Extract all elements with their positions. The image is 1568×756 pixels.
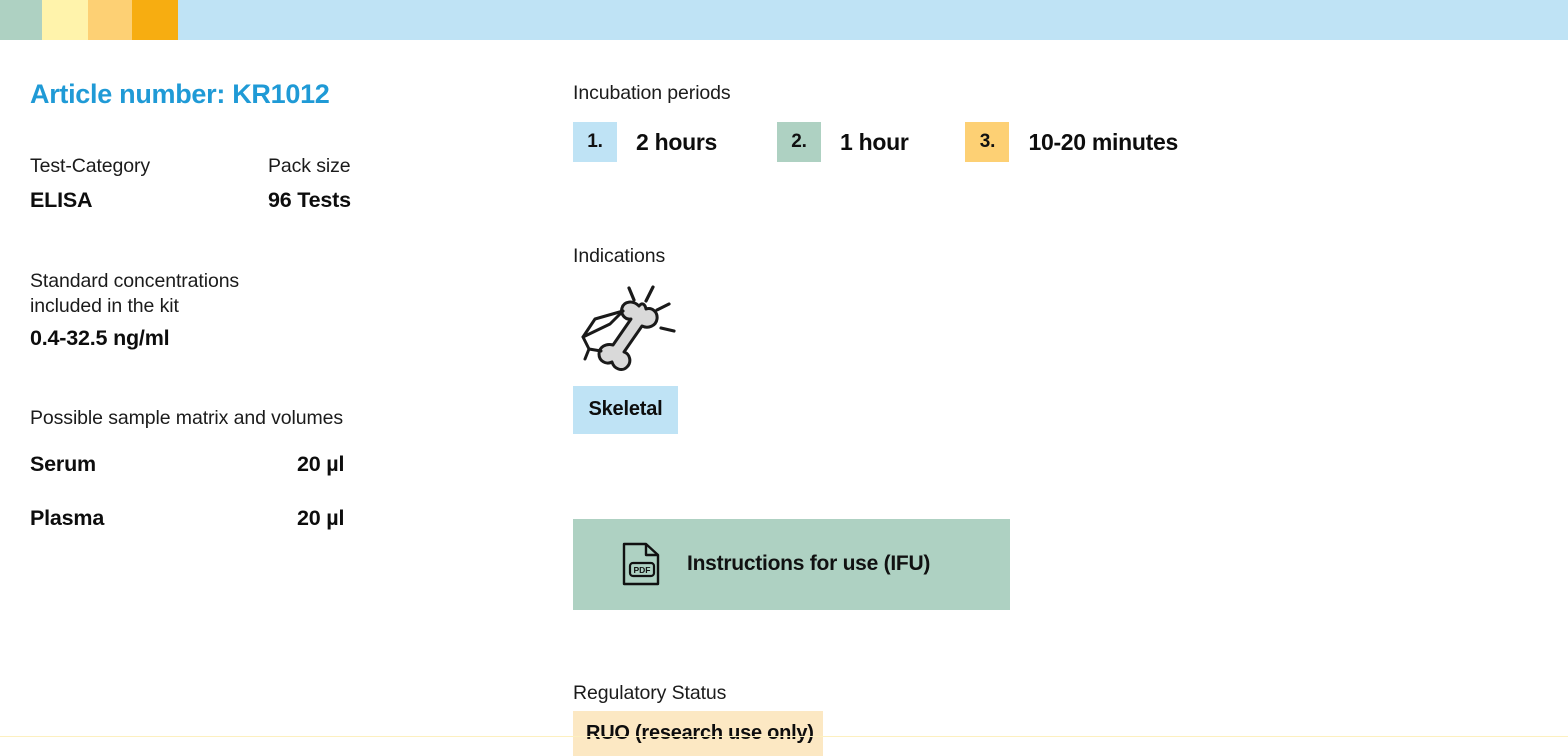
incubation-step-number-3: 3.	[965, 122, 1009, 162]
incubation-step-number-1: 1.	[573, 122, 617, 162]
standard-concentrations-value: 0.4-32.5 ng/ml	[30, 325, 530, 353]
pack-size-value: 96 Tests	[268, 187, 468, 215]
swatch-blue	[178, 0, 1568, 40]
top-color-bar	[0, 0, 1568, 40]
product-details-right-column: Incubation periods 1. 2 hours 2. 1 hour …	[573, 82, 1533, 756]
swatch-green	[0, 0, 42, 40]
incubation-periods-label: Incubation periods	[573, 82, 1533, 105]
sample-matrix-label: Possible sample matrix and volumes	[30, 406, 530, 431]
standard-concentrations-block: Standard concentrations included in the …	[30, 269, 530, 352]
indication-badge-skeletal: Skeletal	[573, 386, 678, 434]
pack-size-label: Pack size	[268, 154, 468, 179]
broken-bone-icon	[573, 281, 683, 381]
regulatory-status-badge-label: RUO (research use only)	[586, 722, 814, 745]
incubation-periods-block: Incubation periods 1. 2 hours 2. 1 hour …	[573, 82, 1533, 162]
matrix-volume-plasma: 20 µl	[297, 505, 344, 533]
incubation-periods-row: 1. 2 hours 2. 1 hour 3. 10-20 minutes	[573, 122, 1533, 162]
bottom-divider	[0, 736, 1568, 737]
incubation-step-number-2: 2.	[777, 122, 821, 162]
article-number-heading: Article number: KR1012	[30, 78, 530, 110]
matrix-row-serum: Serum 20 µl	[30, 451, 530, 479]
regulatory-status-badge: RUO (research use only)	[573, 711, 823, 756]
swatch-orange	[132, 0, 178, 40]
pack-size-pair: Pack size 96 Tests	[268, 154, 468, 214]
category-and-pack-row: Test-Category ELISA Pack size 96 Tests	[30, 154, 530, 214]
incubation-item-1: 1. 2 hours	[573, 122, 717, 162]
matrix-name-plasma: Plasma	[30, 505, 297, 533]
matrix-row-plasma: Plasma 20 µl	[30, 505, 530, 533]
matrix-name-serum: Serum	[30, 451, 297, 479]
test-category-label: Test-Category	[30, 154, 268, 179]
incubation-item-2: 2. 1 hour	[777, 122, 908, 162]
regulatory-status-label: Regulatory Status	[573, 682, 1533, 705]
incubation-duration-3: 10-20 minutes	[1028, 129, 1178, 156]
swatch-amber	[88, 0, 132, 40]
swatch-yellow	[42, 0, 88, 40]
standard-concentrations-label-line2: included in the kit	[30, 294, 530, 319]
incubation-item-3: 3. 10-20 minutes	[965, 122, 1178, 162]
incubation-duration-1: 2 hours	[636, 129, 717, 156]
sample-matrix-block: Possible sample matrix and volumes Serum…	[30, 406, 530, 532]
instructions-for-use-button[interactable]: PDF Instructions for use (IFU)	[573, 519, 1010, 610]
indications-block: Indications Skeletal	[573, 245, 1533, 433]
test-category-pair: Test-Category ELISA	[30, 154, 268, 214]
test-category-value: ELISA	[30, 187, 268, 215]
product-summary-left-column: Article number: KR1012 Test-Category ELI…	[30, 78, 530, 558]
indication-badge-label: Skeletal	[588, 398, 662, 421]
instructions-for-use-label: Instructions for use (IFU)	[687, 552, 930, 576]
regulatory-status-block: Regulatory Status RUO (research use only…	[573, 682, 1533, 756]
standard-concentrations-label-line1: Standard concentrations	[30, 269, 530, 294]
indications-label: Indications	[573, 245, 1533, 268]
svg-text:PDF: PDF	[634, 565, 651, 575]
pdf-file-icon: PDF	[621, 542, 661, 586]
matrix-volume-serum: 20 µl	[297, 451, 344, 479]
incubation-duration-2: 1 hour	[840, 129, 908, 156]
